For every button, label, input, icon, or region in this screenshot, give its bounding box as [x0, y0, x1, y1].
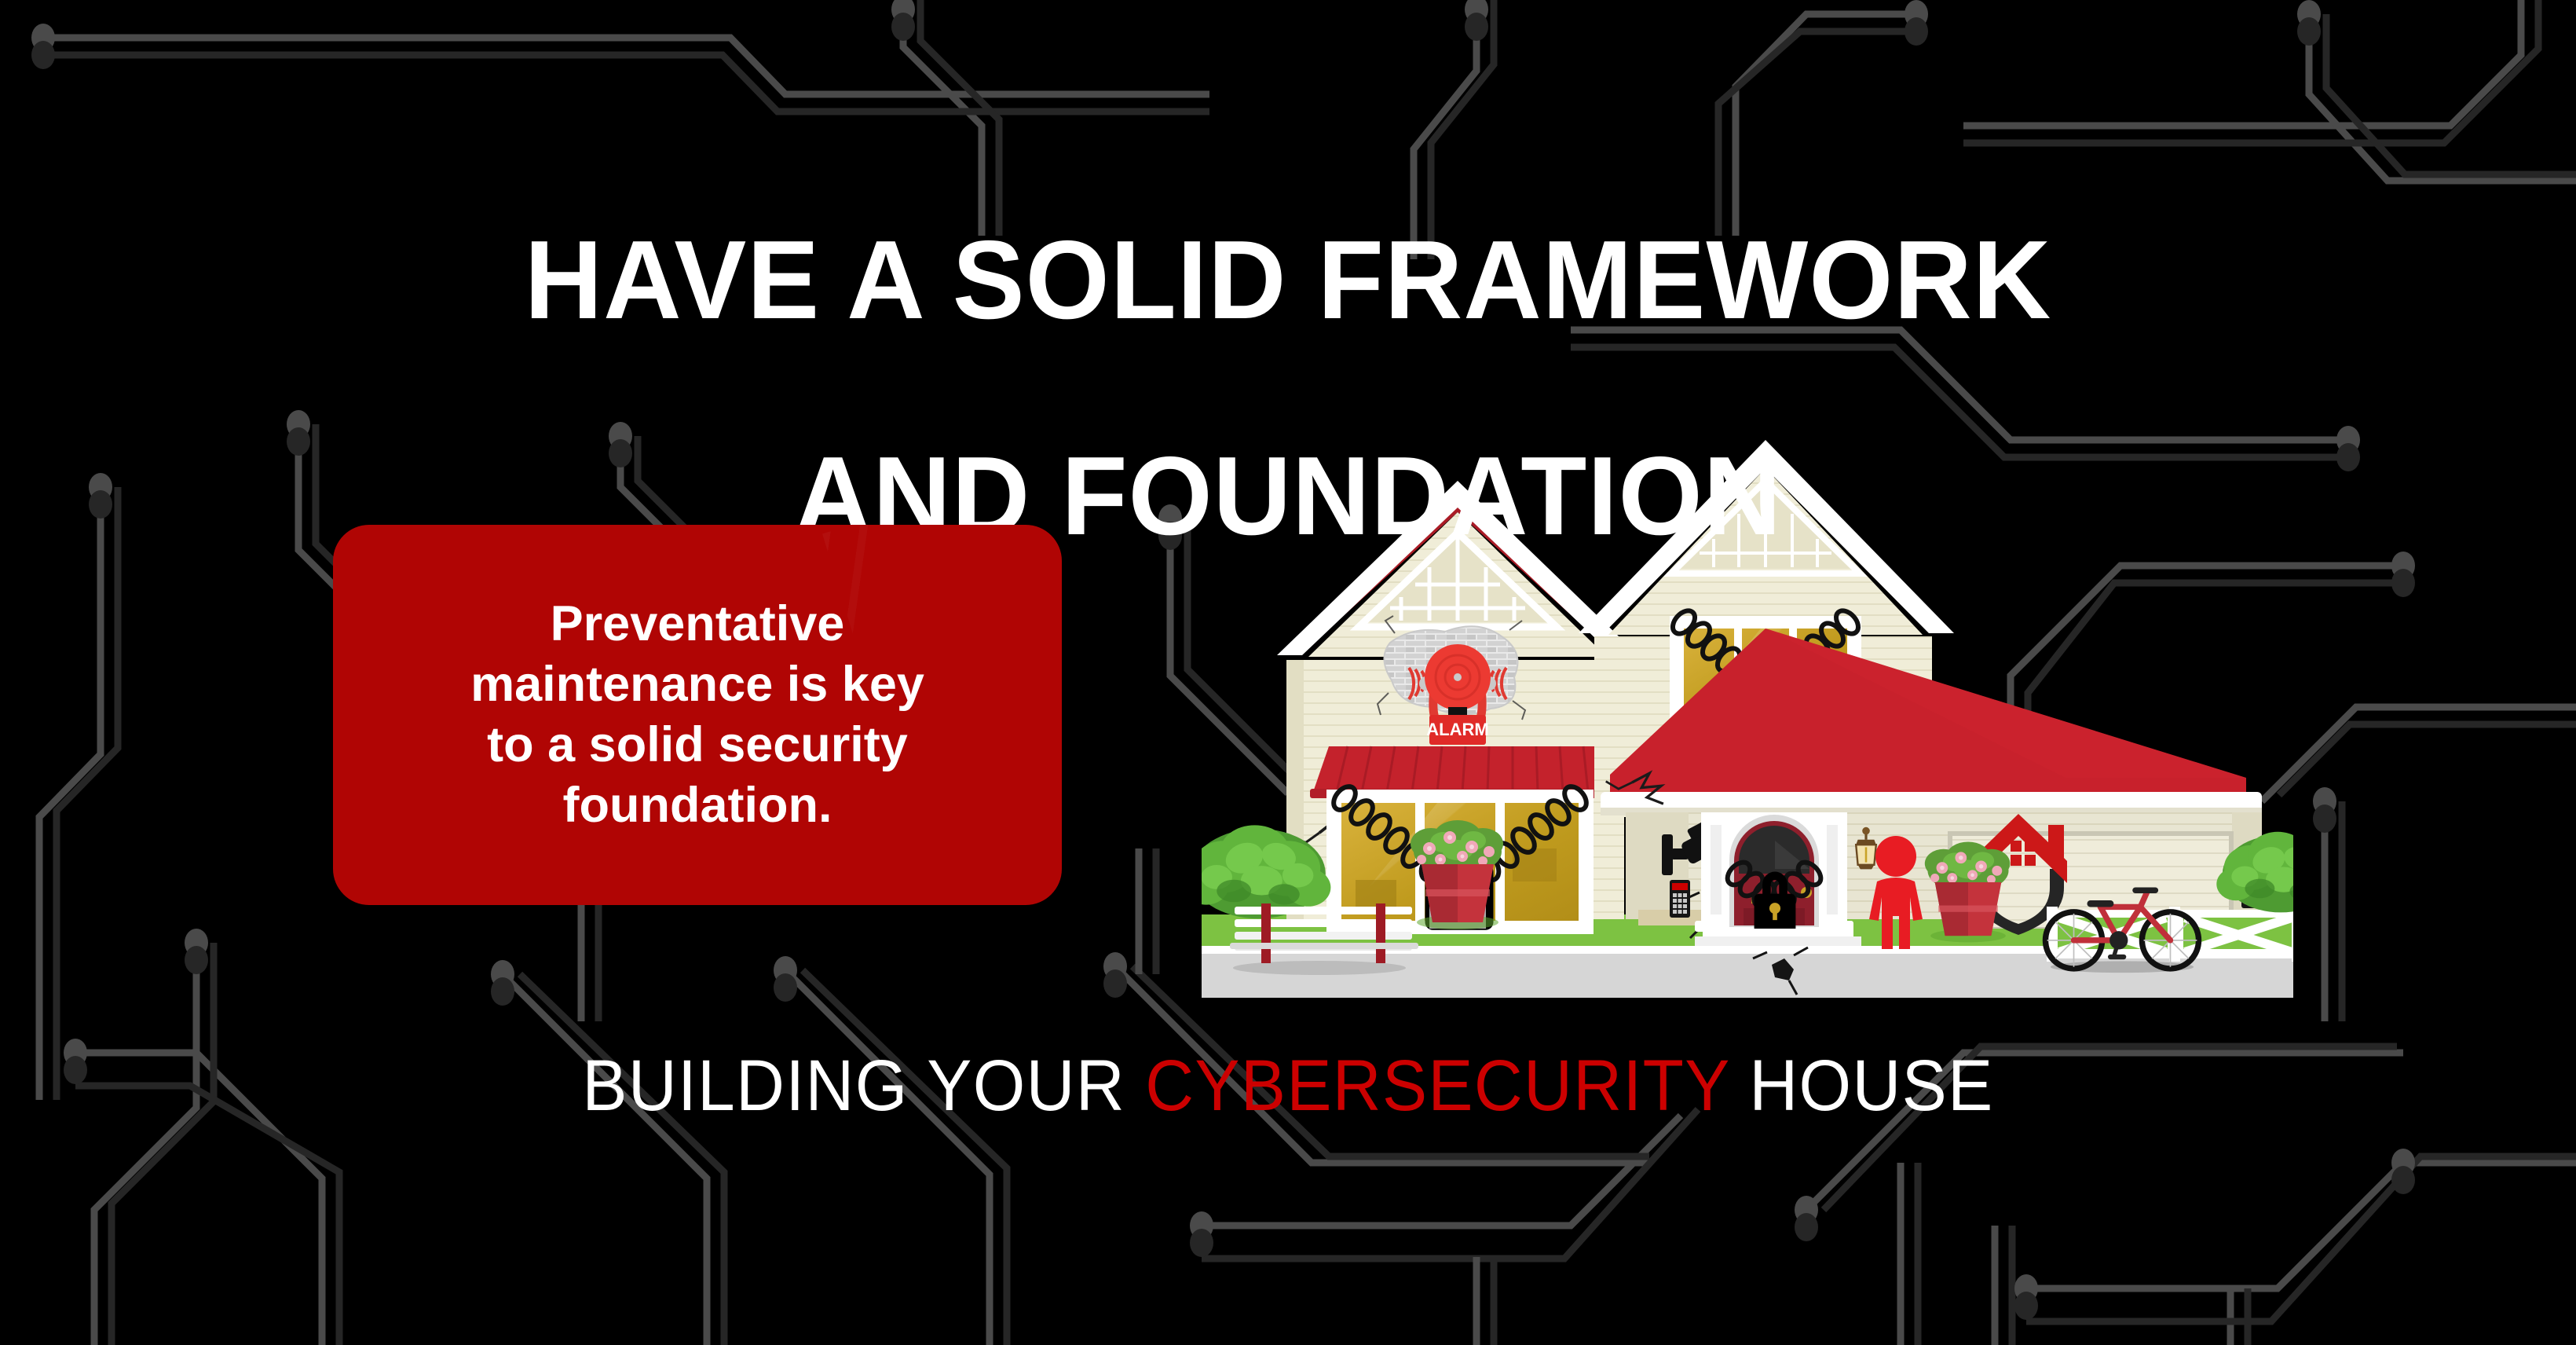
headline-line-1: HAVE A SOLID FRAMEWORK [38, 226, 2538, 335]
sidewalk [1202, 952, 2293, 998]
poster-canvas: HAVE A SOLID FRAMEWORK AND FOUNDATION Pr… [0, 0, 2576, 1345]
tagline: BUILDING YOUR CYBERSECURITY HOUSE [90, 1045, 2486, 1127]
tagline-after: HOUSE [1729, 1046, 1993, 1126]
keypad-left[interactable] [1670, 880, 1690, 918]
bench [1230, 903, 1418, 975]
callout-box: Preventative maintenance is key to a sol… [333, 525, 1062, 905]
tagline-highlight: CYBERSECURITY [1145, 1046, 1729, 1126]
alarm-label: ALARM [1426, 720, 1488, 739]
tagline-before: BUILDING YOUR [582, 1046, 1145, 1126]
callout-text: Preventative maintenance is key to a sol… [434, 594, 961, 835]
porch-steps [1695, 929, 1861, 946]
